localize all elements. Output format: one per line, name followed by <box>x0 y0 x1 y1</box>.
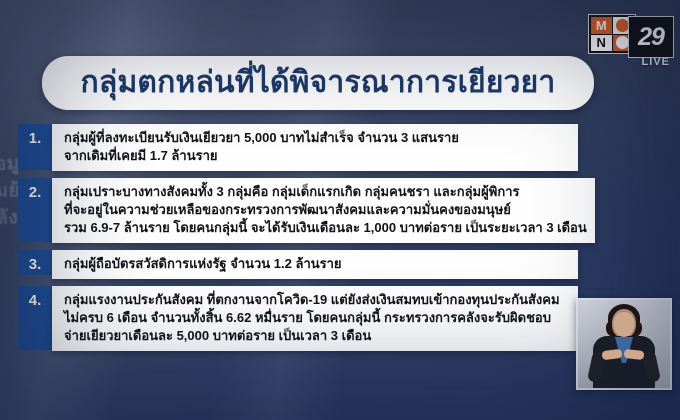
list-item-line: กลุ่มเปราะบางทางสังคมทั้ง 3 กลุ่มคือ กลุ… <box>64 183 587 201</box>
bullet-list: 1. กลุ่มผู้ที่ลงทะเบียนรับเงินเยียวยา 5,… <box>18 124 578 358</box>
list-item-line: ที่จะอยู่ในความช่วยเหลือของกระทรวงการพัฒ… <box>64 201 587 219</box>
page-title: กลุ่มตกหล่นที่ได้พิจารณาการเยียวยา <box>81 68 556 98</box>
interpreter-hand-right <box>624 349 645 360</box>
list-item-line: รวม 6.9-7 ล้านราย โดยคนกลุ่มนี้ จะได้รับ… <box>64 219 587 237</box>
list-item-body: กลุ่มเปราะบางทางสังคมทั้ง 3 กลุ่มคือ กลุ… <box>52 178 595 243</box>
list-item: 3. กลุ่มผู้ถือบัตรสวัสดิการแห่งรัฐ จำนวน… <box>18 250 578 279</box>
list-item-number: 4. <box>18 286 52 350</box>
list-item-line: กลุ่มแรงงานประกันสังคม ที่ตกงานจากโควิด-… <box>64 291 570 309</box>
list-item-body: กลุ่มแรงงานประกันสังคม ที่ตกงานจากโควิด-… <box>52 286 578 351</box>
list-item-body: กลุ่มผู้ที่ลงทะเบียนรับเงินเยียวยา 5,000… <box>52 124 578 171</box>
logo-channel-number: 29 <box>628 16 674 58</box>
list-item-number: 1. <box>18 124 52 170</box>
interpreter-face <box>614 312 635 337</box>
broadcast-screen: อมู มย้ ลัง M N 29 LIVE กลุ่มตกหล่นที่ได… <box>0 0 680 420</box>
headline-bar: กลุ่มตกหล่นที่ได้พิจารณาการเยียวยา <box>42 56 594 110</box>
list-item-line: กลุ่มผู้ที่ลงทะเบียนรับเงินเยียวยา 5,000… <box>64 129 570 147</box>
channel-logo: M N 29 LIVE <box>588 14 672 62</box>
list-item: 4. กลุ่มแรงงานประกันสังคม ที่ตกงานจากโคว… <box>18 286 578 351</box>
list-item-number: 2. <box>18 178 52 242</box>
list-item-body: กลุ่มผู้ถือบัตรสวัสดิการแห่งรัฐ จำนวน 1.… <box>52 250 578 279</box>
live-badge: LIVE <box>642 56 670 68</box>
logo-letter-n: N <box>591 35 612 52</box>
sign-language-interpreter-inset <box>576 298 672 390</box>
list-item-line: กลุ่มผู้ถือบัตรสวัสดิการแห่งรัฐ จำนวน 1.… <box>64 255 570 273</box>
list-item: 2. กลุ่มเปราะบางทางสังคมทั้ง 3 กลุ่มคือ … <box>18 178 578 243</box>
logo-letter-m: M <box>591 17 612 34</box>
list-item-number: 3. <box>18 250 52 275</box>
list-item-line: จ่ายเยียวยาเดือนละ 5,000 บาทต่อราย เป็นเ… <box>64 327 570 345</box>
list-item: 1. กลุ่มผู้ที่ลงทะเบียนรับเงินเยียวยา 5,… <box>18 124 578 171</box>
list-item-line: ไม่ครบ 6 เดือน จำนวนทั้งสิ้น 6.62 หมื่นร… <box>64 309 570 327</box>
list-item-line: จากเดิมที่เคยมี 1.7 ล้านราย <box>64 147 570 165</box>
